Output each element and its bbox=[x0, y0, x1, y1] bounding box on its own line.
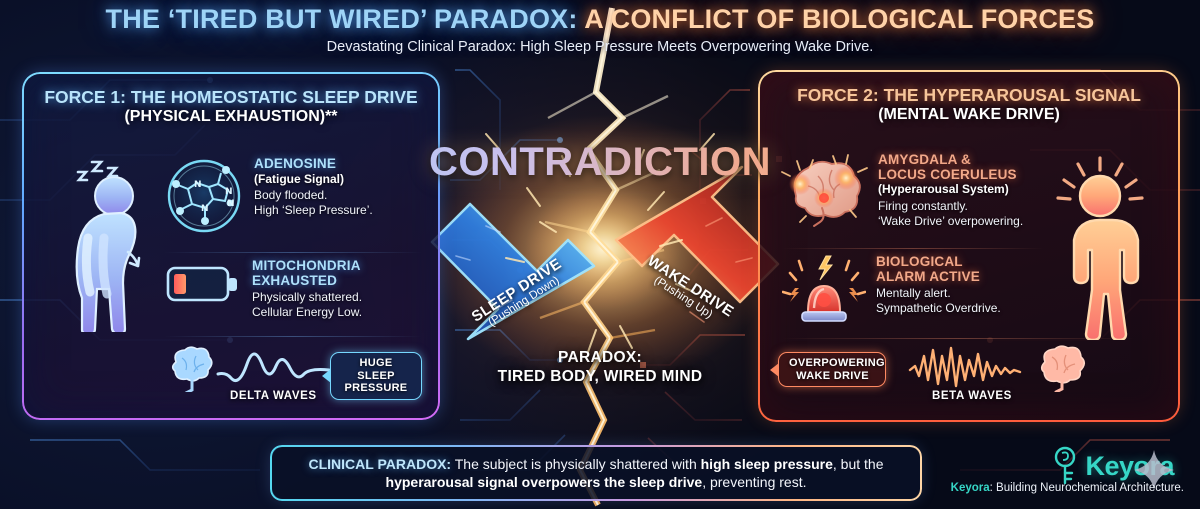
paradox-line-2: TIRED BODY, WIRED MIND bbox=[0, 367, 1200, 386]
mitochondria-heading-2: EXHAUSTED bbox=[252, 274, 362, 289]
clinical-paradox-text-c: , preventing rest. bbox=[702, 474, 806, 490]
clinical-paradox-text-a: The subject is physically shattered with bbox=[451, 456, 701, 472]
paradox-line-1: PARADOX: bbox=[0, 348, 1200, 367]
adenosine-body-2: High ‘Sleep Pressure’. bbox=[254, 203, 373, 218]
mitochondria-feature: MITOCHONDRIA EXHAUSTED Physically shatte… bbox=[164, 258, 426, 319]
contradiction-headline: CONTRADICTION bbox=[0, 140, 1200, 185]
biological-alarm-heading-2: ALARM ACTIVE bbox=[876, 270, 1001, 285]
mitochondria-body-1: Physically shattered. bbox=[252, 290, 362, 305]
force-1-title: FORCE 1: THE HOMEOSTATIC SLEEP DRIVE (PH… bbox=[24, 88, 438, 126]
clinical-paradox-bold-b: hyperarousal signal overpowers the sleep… bbox=[386, 474, 703, 490]
brand-logo: Keyora bbox=[1048, 446, 1174, 486]
right-divider-1 bbox=[782, 248, 1044, 249]
left-divider-1 bbox=[164, 252, 422, 253]
delta-waves-label: DELTA WAVES bbox=[230, 390, 317, 402]
clinical-paradox-text: CLINICAL PARADOX: The subject is physica… bbox=[272, 455, 920, 491]
svg-text:N: N bbox=[227, 199, 235, 209]
left-divider-2 bbox=[164, 336, 422, 337]
page-subtitle: Devastating Clinical Paradox: High Sleep… bbox=[0, 39, 1200, 55]
sleep-drive-arrow bbox=[432, 204, 594, 339]
page-title: THE ‘TIRED BUT WIRED’ PARADOX: A CONFLIC… bbox=[0, 4, 1200, 35]
mitochondria-heading-1: MITOCHONDRIA bbox=[252, 259, 362, 274]
biological-alarm-heading-1: BIOLOGICAL bbox=[876, 255, 1001, 270]
adenosine-body-1: Body flooded. bbox=[254, 188, 373, 203]
mitochondria-text: MITOCHONDRIA EXHAUSTED Physically shatte… bbox=[252, 258, 362, 319]
brand-tagline: Keyora: Building Neurochemical Architect… bbox=[951, 482, 1184, 494]
clinical-paradox-lead: CLINICAL PARADOX: bbox=[309, 456, 452, 472]
biological-alarm-text: BIOLOGICAL ALARM ACTIVE Mentally alert. … bbox=[876, 254, 1001, 315]
biological-alarm-feature: BIOLOGICAL ALARM ACTIVE Mentally alert. … bbox=[782, 254, 1050, 337]
force-1-title-line1: FORCE 1: THE HOMEOSTATIC SLEEP DRIVE bbox=[24, 88, 438, 108]
svg-text:N: N bbox=[201, 204, 209, 214]
alarm-siren-icon bbox=[782, 254, 866, 337]
biological-alarm-body-1: Mentally alert. bbox=[876, 286, 1001, 301]
sleep-drive-label: SLEEP DRIVE (Pushing Down) bbox=[469, 255, 571, 335]
wake-drive-label: WAKE DRIVE (Pushing Up) bbox=[638, 252, 736, 329]
clinical-paradox-bold-a: high sleep pressure bbox=[701, 456, 833, 472]
biological-alarm-body-2: Sympathetic Overdrive. bbox=[876, 301, 1001, 316]
force-2-title: FORCE 2: THE HYPERAROUSAL SIGNAL (MENTAL… bbox=[760, 86, 1178, 124]
brand-tagline-name: Keyora bbox=[951, 482, 990, 494]
page-title-part2: A CONFLICT OF BIOLOGICAL FORCES bbox=[584, 4, 1094, 34]
mitochondria-body-2: Cellular Energy Low. bbox=[252, 305, 362, 320]
right-divider-2 bbox=[782, 338, 1134, 339]
header: THE ‘TIRED BUT WIRED’ PARADOX: A CONFLIC… bbox=[0, 4, 1200, 55]
amygdala-body-2: ‘Wake Drive’ overpowering. bbox=[878, 214, 1023, 229]
key-icon bbox=[1048, 446, 1082, 486]
force-1-title-line2: (PHYSICAL EXHAUSTION)** bbox=[24, 108, 438, 126]
force-2-title-line1: FORCE 2: THE HYPERAROUSAL SIGNAL bbox=[760, 86, 1178, 106]
paradox-center-text: PARADOX: TIRED BODY, WIRED MIND bbox=[0, 348, 1200, 386]
page-title-part1: THE ‘TIRED BUT WIRED’ PARADOX: bbox=[106, 4, 585, 34]
force-2-title-line2: (MENTAL WAKE DRIVE) bbox=[760, 106, 1178, 124]
amygdala-subheading: (Hyperarousal System) bbox=[878, 183, 1023, 197]
clinical-paradox-text-b: , but the bbox=[833, 456, 884, 472]
beta-waves-label: BETA WAVES bbox=[932, 390, 1012, 402]
svg-text:N: N bbox=[225, 187, 233, 197]
clinical-paradox-banner: CLINICAL PARADOX: The subject is physica… bbox=[272, 447, 920, 499]
amygdala-body-1: Firing constantly. bbox=[878, 199, 1023, 214]
brand-tagline-rest: : Building Neurochemical Architecture. bbox=[990, 482, 1184, 494]
low-battery-icon bbox=[164, 258, 242, 315]
